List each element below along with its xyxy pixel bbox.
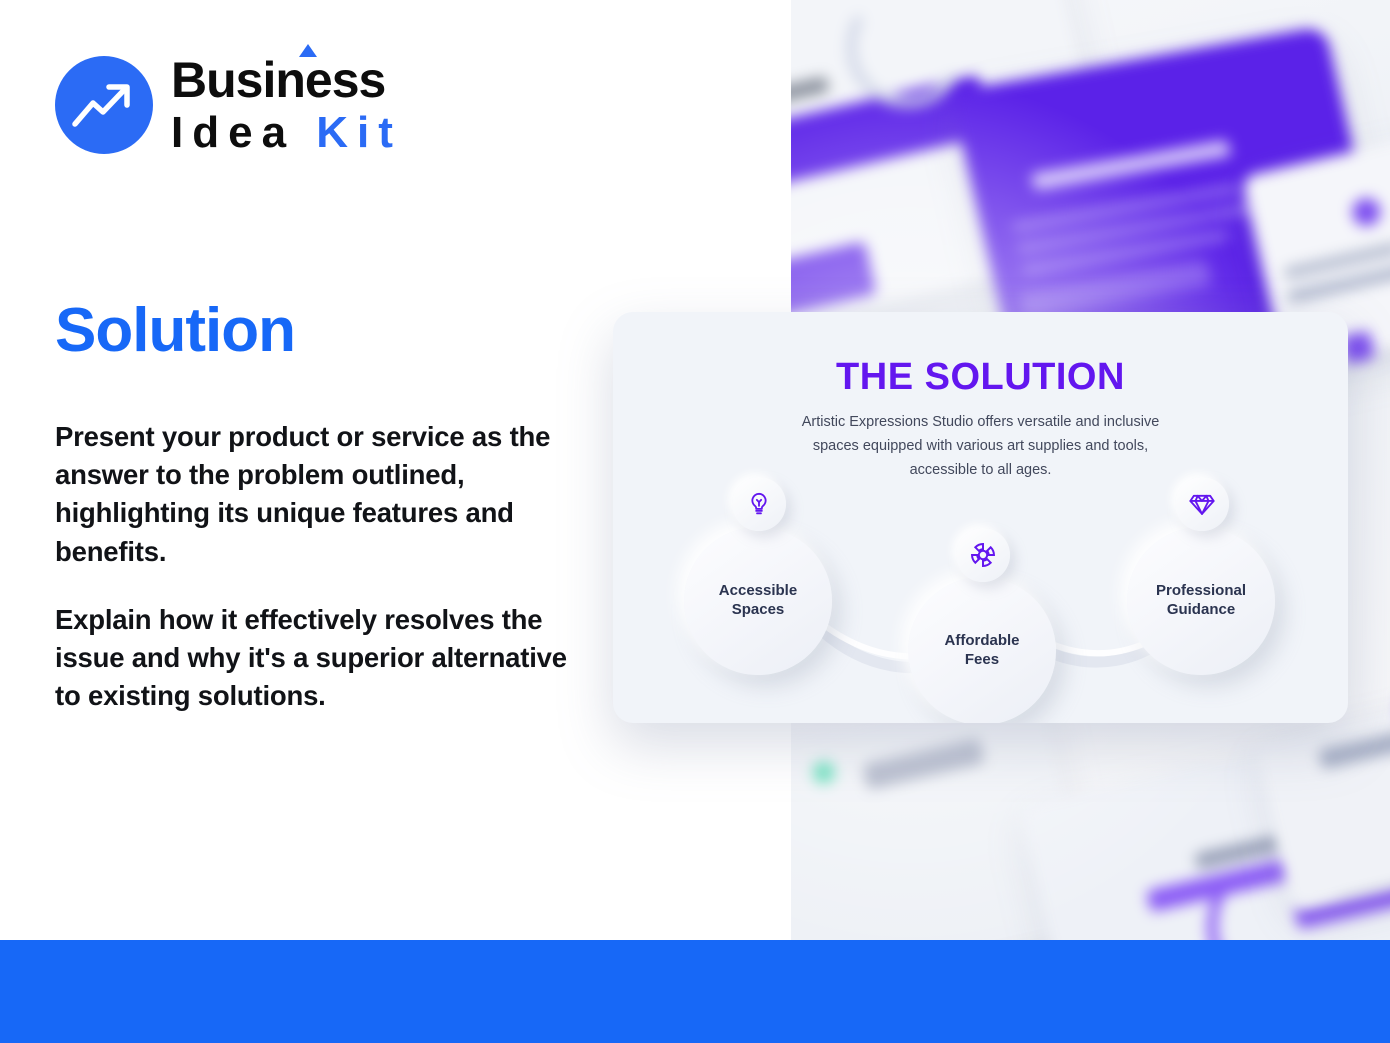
node-label-line1: Professional: [1156, 582, 1246, 601]
mockup-slide-bottom-right: [1255, 690, 1390, 910]
brand-name-primary: Business: [171, 55, 402, 105]
body-paragraph-1: Present your product or service as the a…: [55, 418, 595, 571]
lifebuoy-target-icon: [956, 528, 1010, 582]
brand-name-idea-text: Idea: [171, 108, 316, 157]
node-label: Accessible Spaces: [719, 582, 797, 620]
solution-node-professional-guidance[interactable]: Professional Guidance: [1127, 527, 1275, 675]
lightbulb-icon: [732, 477, 786, 531]
solution-card-title: THE SOLUTION: [613, 356, 1348, 399]
node-label-line2: Fees: [945, 651, 1020, 670]
solution-node-accessible-spaces[interactable]: Accessible Spaces: [684, 527, 832, 675]
mockup-slide-bottom-charts: [1019, 690, 1390, 940]
node-label-line2: Spaces: [719, 601, 797, 620]
brand-name-secondary: Idea Kit: [171, 111, 402, 155]
solution-node-affordable-fees[interactable]: Affordable Fees: [908, 577, 1056, 723]
solution-card: THE SOLUTION Artistic Expressions Studio…: [613, 312, 1348, 723]
body-copy: Present your product or service as the a…: [55, 418, 595, 716]
trending-up-arrow-icon: [55, 56, 153, 154]
diamond-gem-icon: [1175, 477, 1229, 531]
node-label: Professional Guidance: [1156, 582, 1246, 620]
page-title: Solution: [55, 295, 295, 366]
footer-bar: [0, 940, 1390, 1043]
node-label-line1: Accessible: [719, 582, 797, 601]
brand-logo: Business Idea Kit: [55, 55, 402, 155]
circumflex-accent-icon: [299, 44, 317, 57]
node-label: Affordable Fees: [945, 632, 1020, 670]
node-label-line1: Affordable: [945, 632, 1020, 651]
brand-name-primary-text: Business: [171, 52, 385, 108]
brand-name-kit-text: Kit: [316, 108, 402, 157]
slide-root: Business Idea Kit Solution Present your …: [0, 0, 1390, 1043]
body-paragraph-2: Explain how it effectively resolves the …: [55, 601, 595, 716]
solution-card-description: Artistic Expressions Studio offers versa…: [788, 410, 1173, 482]
node-label-line2: Guidance: [1156, 601, 1246, 620]
mockup-slide-top-left: [791, 0, 1123, 343]
